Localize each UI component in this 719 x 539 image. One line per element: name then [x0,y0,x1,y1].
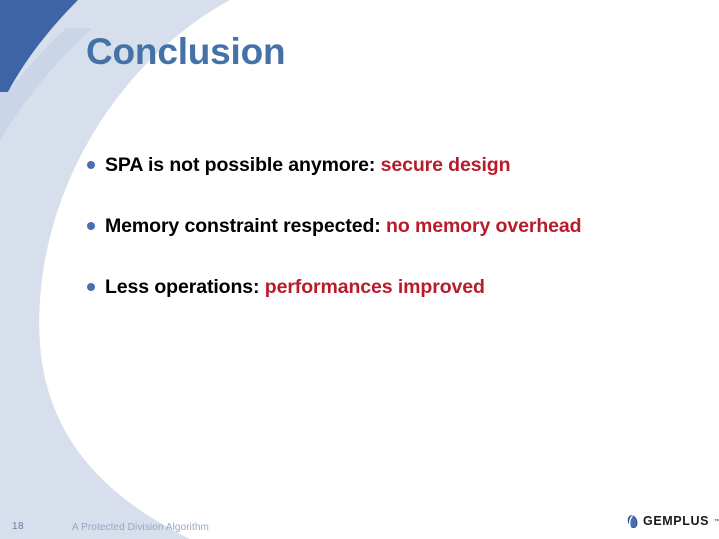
corner-wedge-shape [0,0,78,92]
gemplus-logo-text: GEMPLUS [643,515,709,528]
slide: Conclusion SPA is not possible anymore: … [0,0,719,539]
gemplus-mark-icon [626,514,639,529]
gemplus-logo: GEMPLUS ™ [626,514,719,529]
footer-deck-title: A Protected Division Algorithm [72,522,209,533]
trademark-icon: ™ [714,519,719,525]
bullet-text-lead: Less operations: [105,276,265,298]
list-item: Less operations: performances improved [86,272,656,302]
bullet-dot-icon [87,283,95,291]
bullet-list: SPA is not possible anymore: secure desi… [86,150,656,302]
bullet-dot-icon [87,222,95,230]
list-item: SPA is not possible anymore: secure desi… [86,150,656,180]
corner-accent-shape [0,28,92,140]
page-title: Conclusion [86,31,285,73]
bullet-text-emphasis: performances improved [265,276,485,298]
bullet-text-lead: SPA is not possible anymore: [105,154,381,176]
bullet-text-emphasis: no memory overhead [386,215,581,237]
footer-page-number: 18 [12,521,24,532]
bullet-text-emphasis: secure design [381,154,511,176]
list-item: Memory constraint respected: no memory o… [86,211,656,241]
bullet-text-lead: Memory constraint respected: [105,215,386,237]
bullet-dot-icon [87,161,95,169]
